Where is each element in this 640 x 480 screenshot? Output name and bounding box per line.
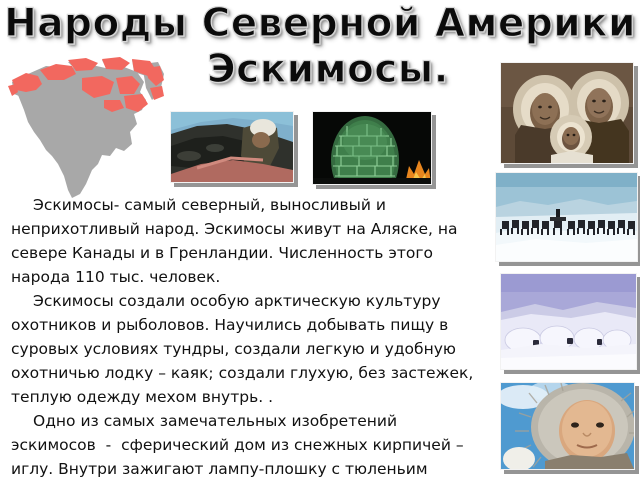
slide-body-text: Эскимосы- самый северный, выносливый и н… <box>11 193 479 480</box>
north-america-map <box>6 52 166 202</box>
dog-sled-team-photo <box>495 172 638 262</box>
eskimo-family-sepia-photo <box>500 62 634 164</box>
glowing-igloo-night-photo <box>312 111 432 185</box>
presentation-slide: Народы Северной Америки Эскимосы. <box>0 0 640 480</box>
eskimo-child-fur-hood-photo <box>500 382 635 470</box>
igloo-village-photo <box>500 273 637 370</box>
paragraph-2: Эскимосы создали особую арктическую куль… <box>11 289 479 409</box>
paragraph-1: Эскимосы- самый северный, выносливый и н… <box>11 193 479 289</box>
title-line-1: Народы Северной Америки <box>0 4 640 43</box>
paragraph-3: Одно из самых замечательных изобретений … <box>11 409 479 480</box>
whale-butchering-photo <box>170 111 294 183</box>
